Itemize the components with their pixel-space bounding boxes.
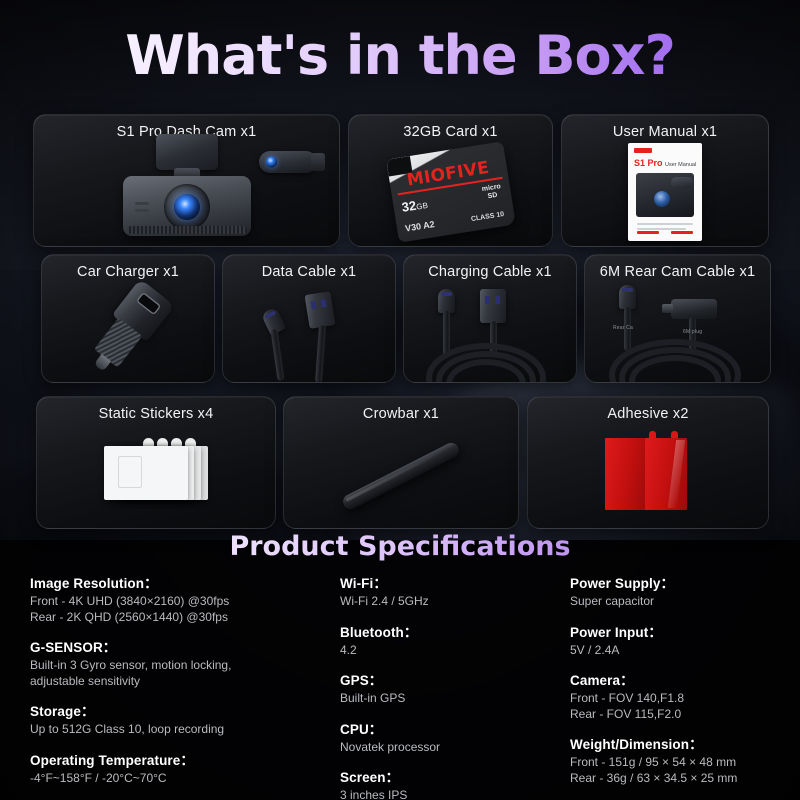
adhesive-pad <box>605 438 647 510</box>
spec-group: Image Resolution：Front - 4K UHD (3840×21… <box>30 572 326 625</box>
spec-group-line: Built-in GPS <box>340 691 562 707</box>
spec-group-line: Front - 151g / 95 × 54 × 48 mm <box>570 755 792 771</box>
dash-cam-art <box>34 141 339 242</box>
spec-group-title: Image Resolution： <box>30 572 326 592</box>
manual-text-line <box>637 223 693 225</box>
spec-group-title: GPS： <box>340 669 562 689</box>
spec-group-line: 3 inches IPS <box>340 788 562 800</box>
manual-text-line <box>637 228 686 230</box>
adhesive-pads <box>605 438 691 510</box>
manual-footer-mark <box>671 231 693 234</box>
box-item-static-stickers[interactable]: Static Stickers x4 <box>36 396 276 529</box>
infographic-page: What's in the Box? S1 Pro Dash Cam x1 32… <box>0 0 800 800</box>
sticker-window-outline <box>118 456 142 488</box>
page-title: What's in the Box? <box>0 24 800 87</box>
rear-cam-art <box>259 151 317 173</box>
box-item-label: Adhesive x2 <box>528 406 768 422</box>
box-item-data-cable[interactable]: Data Cable x1 <box>222 254 396 383</box>
sticker-sheet <box>104 446 188 500</box>
spec-group-line: 4.2 <box>340 643 562 659</box>
sd-card-class: CLASS 10 <box>470 211 504 223</box>
box-item-label: 32GB Card x1 <box>349 124 552 140</box>
manual-title: S1 Pro <box>634 158 663 168</box>
dash-cam-grill <box>127 226 247 234</box>
rear-cam-cable-tag-right: 6M plug <box>683 329 702 335</box>
adhesive-pad <box>645 438 687 510</box>
spec-group-title: Operating Temperature： <box>30 749 326 769</box>
rear-cam-cable-tag-left: Rear Ca <box>613 325 633 331</box>
manual-cover-rear-cam <box>671 177 693 188</box>
spec-group-line: Rear - 36g / 63 × 34.5 × 25 mm <box>570 771 792 787</box>
spec-group: Power Input：5V / 2.4A <box>570 621 792 659</box>
usb-c-wire <box>270 329 284 381</box>
sd-card-capacity-unit: GB <box>415 200 428 211</box>
dash-cam-lens-ring <box>164 184 210 230</box>
spec-group: Wi-Fi：Wi-Fi 2.4 / 5GHz <box>340 572 562 610</box>
manual-art: S1 Pro User Manual <box>562 141 768 242</box>
spec-group-line: Front - 4K UHD (3840×2160) @30fps <box>30 594 326 610</box>
spec-group-title: Storage： <box>30 700 326 720</box>
box-item-label: Data Cable x1 <box>223 264 395 280</box>
manual-heading: S1 Pro User Manual <box>634 158 696 168</box>
manual-footer-mark <box>637 231 659 234</box>
spec-group-line: Super capacitor <box>570 594 792 610</box>
specifications-title: Product Specifications <box>0 531 800 562</box>
dash-cam-vent <box>135 209 149 212</box>
rear-cam-connector <box>619 285 636 309</box>
sd-card-capacity: 32GB <box>400 195 428 214</box>
spec-column-3: Power Supply：Super capacitorPower Input：… <box>570 572 792 797</box>
manual-subtitle: User Manual <box>665 162 696 168</box>
spec-group-line: Wi-Fi 2.4 / 5GHz <box>340 594 562 610</box>
spec-group: CPU：Novatek processor <box>340 718 562 756</box>
spec-group-line: -4°F~158°F / -20°C~70°C <box>30 771 326 787</box>
dash-cam-body <box>123 176 251 236</box>
sticker-stack <box>104 444 208 504</box>
usb-a-connector <box>480 289 506 323</box>
car-charger <box>81 278 175 381</box>
dash-cam-lens <box>174 194 200 220</box>
spec-group-line: Rear - FOV 115,F2.0 <box>570 707 792 723</box>
spec-group-line: Up to 512G Class 10, loop recording <box>30 722 326 738</box>
box-item-crowbar[interactable]: Crowbar x1 <box>283 396 519 529</box>
rear-cam-bracket <box>311 153 325 171</box>
box-item-charging-cable[interactable]: Charging Cable x1 <box>403 254 577 383</box>
spec-group-line: 5V / 2.4A <box>570 643 792 659</box>
sd-card: MIOFIVE 32GB micro SD V30 A2 CLASS 10 <box>386 141 516 242</box>
spec-group-line: Built-in 3 Gyro sensor, motion locking, <box>30 658 326 674</box>
box-item-label: User Manual x1 <box>562 124 768 140</box>
car-charger-usb-port <box>138 293 159 312</box>
spec-group: G-SENSOR：Built-in 3 Gyro sensor, motion … <box>30 636 326 689</box>
usb-a-wire <box>315 325 326 383</box>
car-charger-art <box>42 281 214 378</box>
spec-column-2: Wi-Fi：Wi-Fi 2.4 / 5GHzBluetooth：4.2GPS：B… <box>340 572 562 800</box>
sd-card-art: MIOFIVE 32GB micro SD V30 A2 CLASS 10 <box>349 141 552 242</box>
spec-group-line: Novatek processor <box>340 740 562 756</box>
spec-group: Bluetooth：4.2 <box>340 621 562 659</box>
box-item-memory-card[interactable]: 32GB Card x1 MIOFIVE 32GB micro SD V30 A… <box>348 114 553 247</box>
spec-group-title: Screen： <box>340 766 562 786</box>
box-item-label: Car Charger x1 <box>42 264 214 280</box>
spec-column-1: Image Resolution：Front - 4K UHD (3840×21… <box>30 572 326 797</box>
crowbar-tool <box>341 440 462 511</box>
box-item-label: Static Stickers x4 <box>37 406 275 422</box>
box-item-label: Charging Cable x1 <box>404 264 576 280</box>
spec-group: Weight/Dimension：Front - 151g / 95 × 54 … <box>570 733 792 786</box>
spec-group-title: Power Supply： <box>570 572 792 592</box>
dash-cam-screen <box>156 134 218 170</box>
spec-group-title: CPU： <box>340 718 562 738</box>
specifications-section: Image Resolution：Front - 4K UHD (3840×21… <box>0 572 800 787</box>
charging-cable-art <box>404 281 576 378</box>
rear-cam-angled-plug <box>671 299 717 319</box>
spec-group-line: adjustable sensitivity <box>30 674 326 690</box>
spec-group-title: Bluetooth： <box>340 621 562 641</box>
adhesive-art <box>528 423 768 524</box>
usb-c-connector <box>438 289 455 313</box>
spec-group-line: Rear - 2K QHD (2560×1440) @30fps <box>30 610 326 626</box>
rear-cam-cable-art: Rear Ca 6M plug <box>585 281 770 378</box>
box-item-adhesive[interactable]: Adhesive x2 <box>527 396 769 529</box>
spec-group: Screen：3 inches IPS <box>340 766 562 800</box>
spec-group-title: Weight/Dimension： <box>570 733 792 753</box>
data-cable-art <box>223 281 395 378</box>
sd-card-capacity-value: 32 <box>400 197 417 214</box>
usb-a-connector <box>305 291 336 329</box>
dash-cam-vent <box>135 202 149 205</box>
box-item-dash-cam[interactable]: S1 Pro Dash Cam x1 <box>33 114 340 247</box>
spec-group-title: Power Input： <box>570 621 792 641</box>
spec-group: GPS：Built-in GPS <box>340 669 562 707</box>
spec-group-line: Front - FOV 140,F1.8 <box>570 691 792 707</box>
box-item-rear-cam-cable[interactable]: 6M Rear Cam Cable x1 Rear Ca 6M plug <box>584 254 771 383</box>
manual-logo-tag <box>634 148 652 153</box>
sd-card-micro-mark: micro SD <box>481 183 502 202</box>
box-item-label: 6M Rear Cam Cable x1 <box>585 264 770 280</box>
spec-group: Operating Temperature：-4°F~158°F / -20°C… <box>30 749 326 787</box>
spec-group: Power Supply：Super capacitor <box>570 572 792 610</box>
box-item-label: Crowbar x1 <box>284 406 518 422</box>
crowbar-art <box>284 423 518 524</box>
adhesive-gloss <box>668 440 685 508</box>
manual-booklet: S1 Pro User Manual <box>628 143 702 241</box>
box-item-user-manual[interactable]: User Manual x1 S1 Pro User Manual <box>561 114 769 247</box>
spec-group: Camera：Front - FOV 140,F1.8Rear - FOV 11… <box>570 669 792 722</box>
stickers-art <box>37 423 275 524</box>
box-item-car-charger[interactable]: Car Charger x1 <box>41 254 215 383</box>
spec-group-title: G-SENSOR： <box>30 636 326 656</box>
sd-card-speed-class: V30 A2 <box>404 219 435 234</box>
spec-group: Storage：Up to 512G Class 10, loop record… <box>30 700 326 738</box>
spec-group-title: Wi-Fi： <box>340 572 562 592</box>
rear-cam-lens <box>266 157 277 168</box>
spec-group-title: Camera： <box>570 669 792 689</box>
